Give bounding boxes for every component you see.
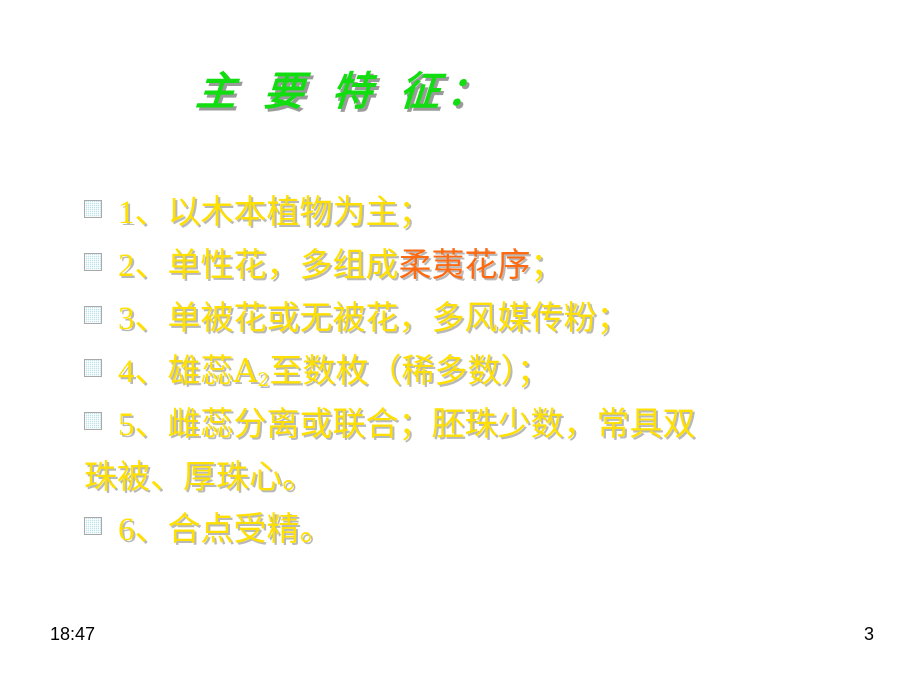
list-item[interactable]: 2、单性花，多组成柔荑花序； <box>84 239 884 292</box>
list-item-body-post: 至数枚（稀多数） <box>269 351 517 390</box>
list-item-trailing: ； <box>531 245 564 284</box>
footer-time: 18:47 <box>50 624 95 645</box>
list-item-body: 以木本植物为主 <box>168 192 399 231</box>
list-item-text: 6、合点受精。 <box>118 503 333 556</box>
slide-page-number: 3 <box>864 624 874 645</box>
square-bullet-icon <box>84 517 102 535</box>
list-item-text: 珠被、厚珠心。 <box>84 451 315 503</box>
list-item-trailing: ； <box>399 192 432 231</box>
list-item-body: 单性花，多组成 <box>168 245 399 284</box>
list-item[interactable]: 3、单被花或无被花，多风媒传粉； <box>84 292 884 345</box>
slide-footer: 18:47 3 <box>0 624 920 660</box>
list-item-text: 5、雌蕊分离或联合；胚珠少数，常具双 <box>118 398 696 451</box>
list-item-number: 4、 <box>118 354 168 390</box>
bullet-list: 1、以木本植物为主； 2、单性花，多组成柔荑花序； 3、单被花或无被花，多风媒传… <box>84 186 884 556</box>
list-item-trailing: ； <box>517 351 550 390</box>
stamen-count-subscript: 2 <box>257 369 269 391</box>
list-item[interactable]: 5、雌蕊分离或联合；胚珠少数，常具双 <box>84 398 884 451</box>
list-item-continuation: 珠被、厚珠心。 <box>84 451 884 503</box>
list-item-text: 3、单被花或无被花，多风媒传粉； <box>118 292 630 345</box>
square-bullet-icon <box>84 200 102 218</box>
list-item-number: 6、 <box>118 512 168 548</box>
list-item[interactable]: 6、合点受精。 <box>84 503 884 556</box>
list-item-number: 3、 <box>118 301 168 337</box>
list-item-number: 1、 <box>118 195 168 231</box>
list-item-body-pre: 雄蕊A <box>168 351 258 390</box>
list-item-text: 2、单性花，多组成柔荑花序； <box>118 239 564 292</box>
list-item-text: 1、以木本植物为主； <box>118 186 432 239</box>
list-item-number: 5、 <box>118 407 168 443</box>
list-item-body: 合点受精。 <box>168 509 333 548</box>
list-item-body: 雌蕊分离或联合；胚珠少数，常具双 <box>168 404 696 443</box>
list-item[interactable]: 4、雄蕊A2至数枚（稀多数）； <box>84 345 884 398</box>
square-bullet-icon <box>84 306 102 324</box>
list-item-trailing: ； <box>597 298 630 337</box>
list-item-text: 4、雄蕊A2至数枚（稀多数）； <box>118 345 550 398</box>
list-item-number: 2、 <box>118 248 168 284</box>
title-block: 主 要 特 征： <box>196 62 836 132</box>
list-item[interactable]: 1、以木本植物为主； <box>84 186 884 239</box>
list-item-body: 单被花或无被花，多风媒传粉 <box>168 298 597 337</box>
highlighted-term: 柔荑花序 <box>399 245 531 284</box>
slide-canvas: 主 要 特 征： 1、以木本植物为主； 2、单性花，多组成柔荑花序； 3、单被花… <box>0 0 920 690</box>
page-title: 主 要 特 征： <box>194 62 838 122</box>
square-bullet-icon <box>84 359 102 377</box>
square-bullet-icon <box>84 253 102 271</box>
square-bullet-icon <box>84 412 102 430</box>
